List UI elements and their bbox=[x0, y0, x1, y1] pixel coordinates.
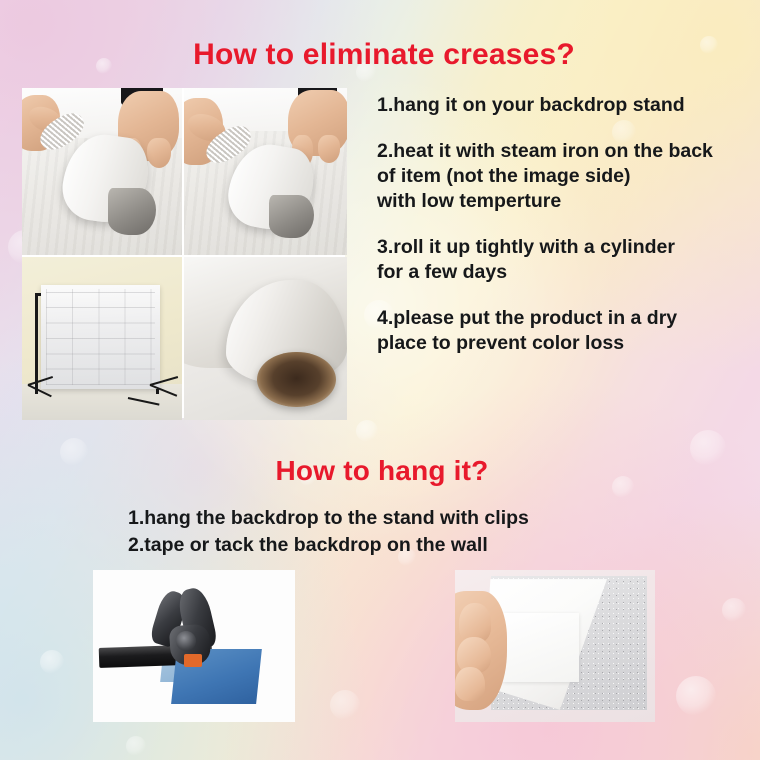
crease-step-2: 2.heat it with steam iron on the back of… bbox=[377, 139, 755, 214]
crease-photo-collage bbox=[22, 88, 345, 418]
crease-step-2-line-1: 2.heat it with steam iron on the back bbox=[377, 139, 755, 164]
crease-step-3-line-1: 3.roll it up tightly with a cylinder bbox=[377, 235, 755, 260]
crease-step-1: 1.hang it on your backdrop stand bbox=[377, 93, 755, 118]
crease-step-2-line-3: with low temperture bbox=[377, 189, 755, 214]
heading-eliminate-creases: How to eliminate creases? bbox=[0, 38, 760, 72]
infographic-page: How to eliminate creases? bbox=[0, 0, 760, 760]
photo-backdrop-on-stand bbox=[22, 257, 182, 420]
crease-step-3: 3.roll it up tightly with a cylinder for… bbox=[377, 235, 755, 285]
hang-step-2: 2.tape or tack the backdrop on the wall bbox=[128, 532, 648, 559]
photo-steam-brush-right bbox=[184, 88, 347, 255]
photo-rolled-backdrop bbox=[184, 257, 347, 420]
crease-step-2-line-2: of item (not the image side) bbox=[377, 164, 755, 189]
crease-steps-list: 1.hang it on your backdrop stand 2.heat … bbox=[377, 93, 755, 356]
photo-peel-adhesive bbox=[455, 570, 655, 722]
photo-steam-brush-left bbox=[22, 88, 182, 255]
photo-spring-clamp bbox=[93, 570, 295, 722]
crease-step-4-line-1: 4.please put the product in a dry bbox=[377, 306, 755, 331]
hang-steps-list: 1.hang the backdrop to the stand with cl… bbox=[128, 505, 648, 559]
crease-step-1-line-1: 1.hang it on your backdrop stand bbox=[377, 93, 755, 118]
hang-step-1: 1.hang the backdrop to the stand with cl… bbox=[128, 505, 648, 532]
heading-how-to-hang: How to hang it? bbox=[0, 455, 760, 487]
crease-step-4-line-2: place to prevent color loss bbox=[377, 331, 755, 356]
crease-step-4: 4.please put the product in a dry place … bbox=[377, 306, 755, 356]
crease-step-3-line-2: for a few days bbox=[377, 260, 755, 285]
